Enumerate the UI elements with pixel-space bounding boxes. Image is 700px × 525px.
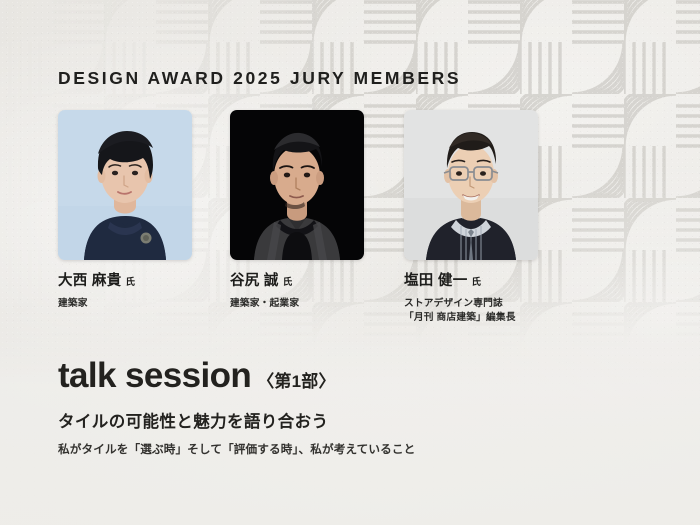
- slide-canvas: DESIGN AWARD 2025 JURY MEMBERS: [0, 0, 700, 525]
- jury-member-name-text: 大西 麻貴: [58, 273, 122, 289]
- page-title: DESIGN AWARD 2025 JURY MEMBERS: [58, 68, 461, 89]
- talk-session-title: talk session: [58, 358, 251, 393]
- jury-member-role: ストアデザイン専門誌 「月刊 商店建築」編集長: [404, 297, 538, 326]
- talk-session-part: 〈第1部〉: [257, 367, 335, 392]
- jury-member-honorific: 氏: [472, 277, 482, 288]
- jury-member-honorific: 氏: [126, 277, 136, 288]
- jury-member-name: 谷尻 誠氏: [230, 274, 364, 289]
- jury-member-name-text: 谷尻 誠: [230, 273, 279, 289]
- jury-member-card: 大西 麻貴氏 建築家: [58, 110, 192, 311]
- talk-session-heading: talk session 〈第1部〉: [58, 358, 415, 393]
- jury-member-role-line: 建築家・起業家: [230, 297, 364, 312]
- jury-member-card: 谷尻 誠氏 建築家・起業家: [230, 110, 364, 311]
- jury-member-role-line: ストアデザイン専門誌: [404, 297, 538, 312]
- jury-member-role: 建築家: [58, 297, 192, 312]
- jury-member-honorific: 氏: [283, 277, 293, 288]
- jury-member-card: 塩田 健一氏 ストアデザイン専門誌 「月刊 商店建築」編集長: [404, 110, 538, 326]
- talk-session-subtitle: タイルの可能性と魅力を語り合おう: [58, 414, 415, 431]
- jury-member-name: 塩田 健一氏: [404, 274, 538, 289]
- portrait-tanijiri-makoto: [230, 110, 364, 260]
- talk-session-block: talk session 〈第1部〉 タイルの可能性と魅力を語り合おう 私がタイ…: [58, 358, 415, 455]
- jury-member-name: 大西 麻貴氏: [58, 274, 192, 289]
- jury-member-role-line: 建築家: [58, 297, 192, 312]
- portrait-onishi-maki: [58, 110, 192, 260]
- jury-member-role-line: 「月刊 商店建築」編集長: [404, 311, 538, 326]
- jury-member-role: 建築家・起業家: [230, 297, 364, 312]
- jury-member-name-text: 塩田 健一: [404, 273, 468, 289]
- talk-session-lead: 私がタイルを「選ぶ時」そして「評価する時」、私が考えていること: [58, 444, 415, 456]
- portrait-shiota-kenichi: [404, 110, 538, 260]
